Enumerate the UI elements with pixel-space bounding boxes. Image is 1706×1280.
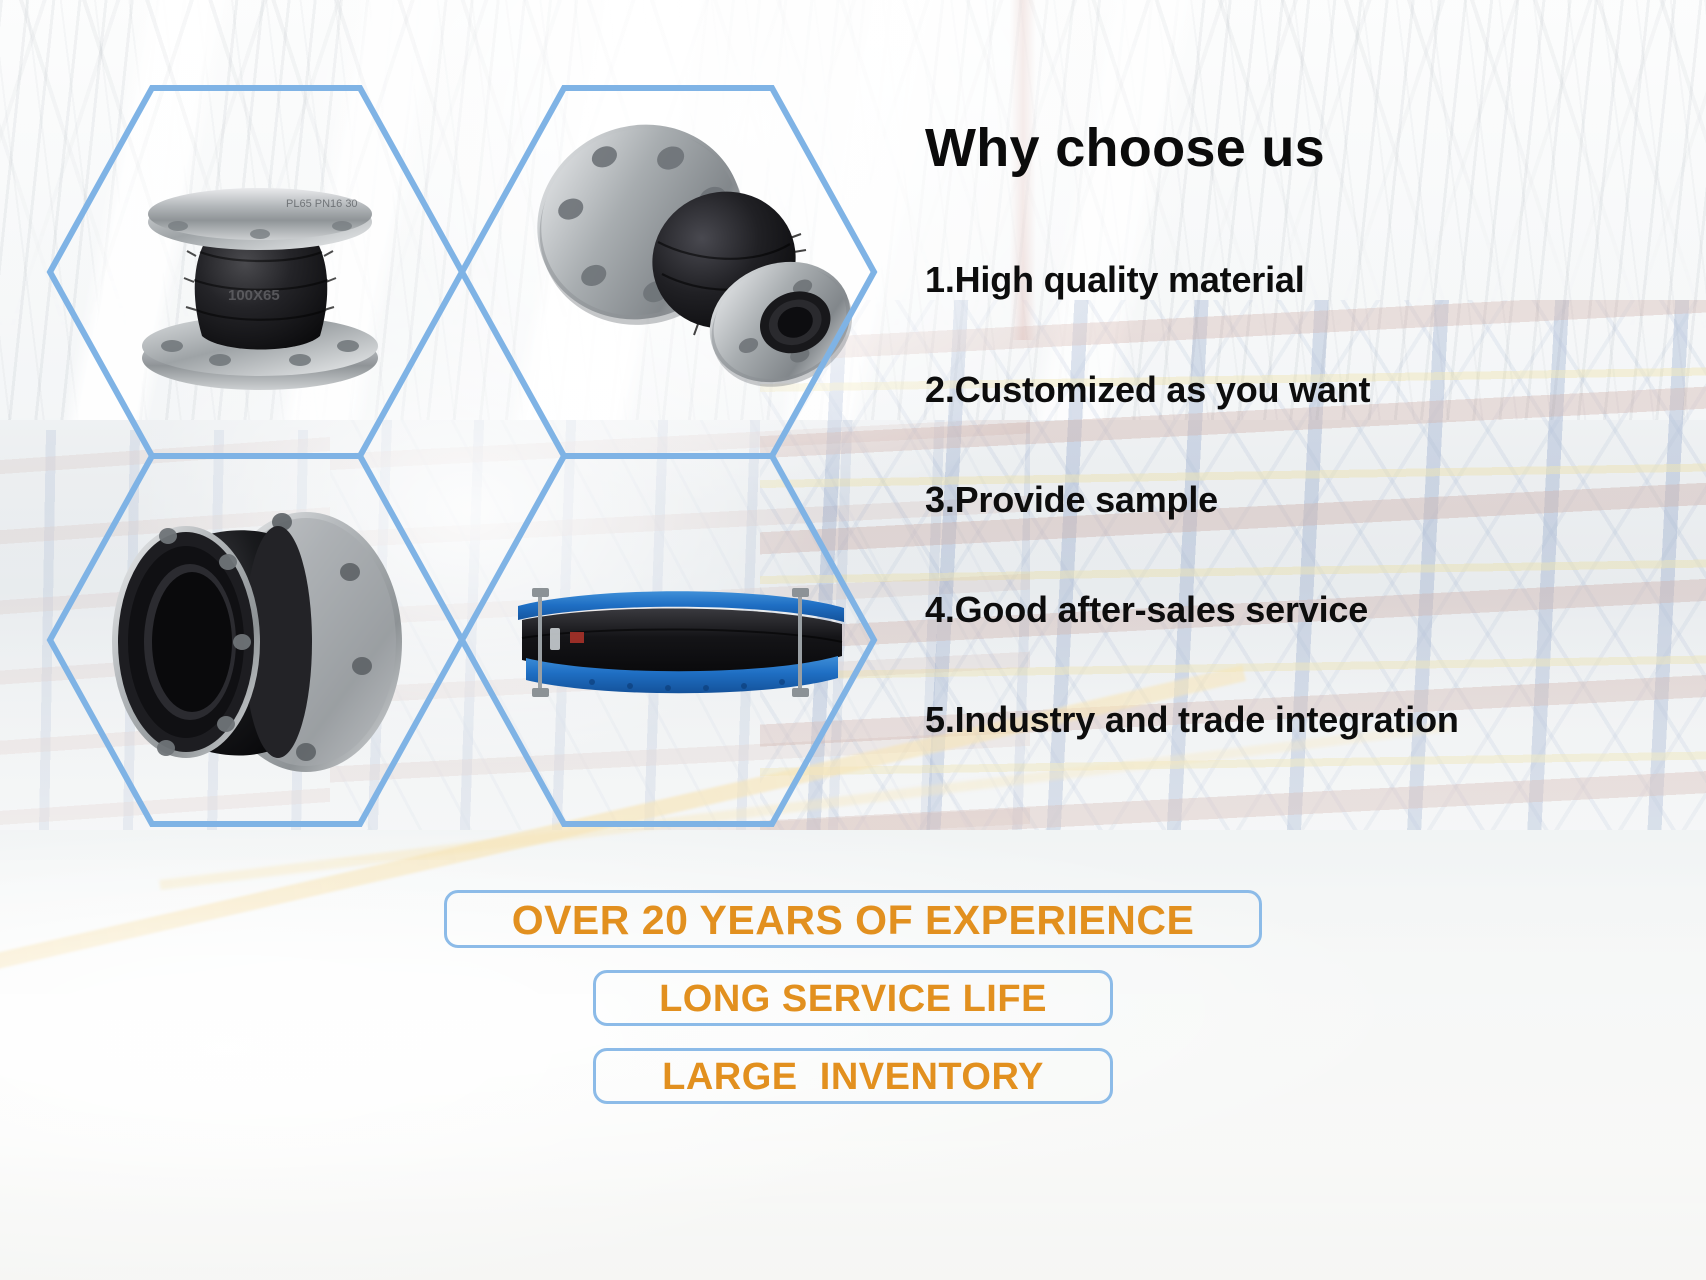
page-title: Why choose us: [925, 120, 1325, 177]
benefit-item-5: 5.Industry and trade integration: [925, 702, 1706, 738]
hexagon-frame-2: [462, 88, 874, 456]
hexagon-frame-grid: [0, 0, 1000, 900]
benefits-list: 1.High quality material 2.Customized as …: [925, 262, 1706, 738]
banner-experience: OVER 20 YEARS OF EXPERIENCE: [444, 890, 1262, 948]
benefit-item-4: 4.Good after-sales service: [925, 592, 1706, 628]
hexagon-frame-4: [462, 456, 874, 824]
hexagon-frame-1: [50, 88, 462, 456]
benefit-item-1: 1.High quality material: [925, 262, 1706, 298]
highlight-banner-group: OVER 20 YEARS OF EXPERIENCE LONG SERVICE…: [0, 890, 1706, 1104]
poster-canvas: 100X65 PL65 PN16 30: [0, 0, 1706, 1280]
hexagon-frame-3: [50, 456, 462, 824]
banner-service-life: LONG SERVICE LIFE: [593, 970, 1113, 1026]
banner-inventory: LARGE INVENTORY: [593, 1048, 1113, 1104]
benefit-item-2: 2.Customized as you want: [925, 372, 1706, 408]
benefit-item-3: 3.Provide sample: [925, 482, 1706, 518]
